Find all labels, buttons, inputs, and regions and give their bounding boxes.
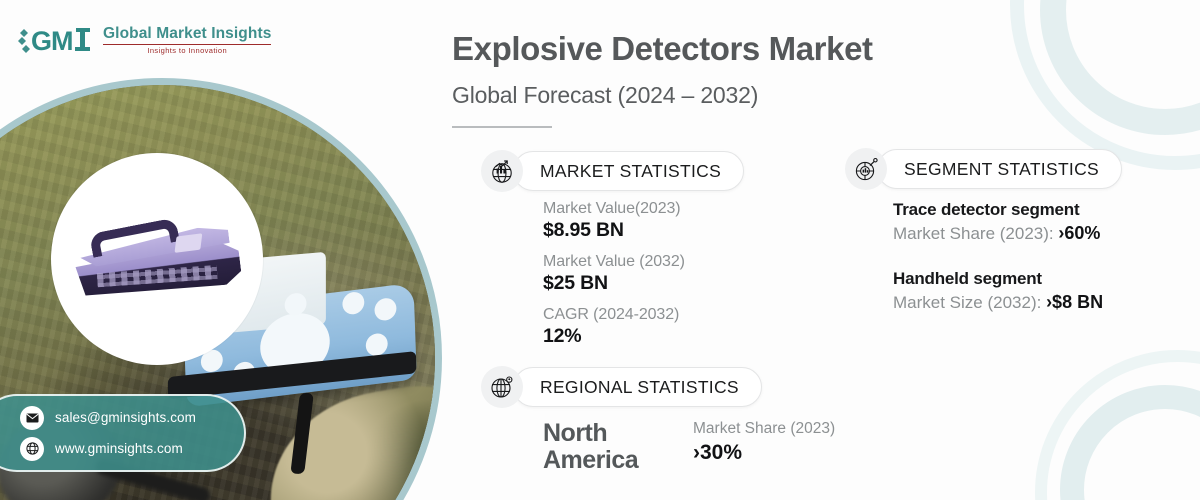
detector-button	[342, 291, 365, 316]
segment-statistics-label: SEGMENT STATISTICS	[904, 159, 1099, 180]
brand-logo[interactable]: GM Global Market Insights Insights to In…	[16, 24, 271, 56]
decorative-arc-bottom-right-inner	[1035, 350, 1200, 500]
logo-wordmark: Global Market Insights Insights to Innov…	[103, 26, 271, 55]
cagr-row: CAGR (2024-2032) 12%	[543, 306, 685, 348]
handheld-metric-label: Market Size (2032):	[893, 293, 1046, 312]
contact-email-row[interactable]: sales@gminsights.com	[20, 406, 244, 430]
handheld-detector-device	[72, 217, 242, 299]
market-statistics-pill: MARKET STATISTICS	[513, 151, 744, 191]
market-statistics-body: Market Value(2023) $8.95 BN Market Value…	[543, 200, 685, 359]
device-screen	[175, 233, 203, 253]
globe-pin-icon	[481, 366, 523, 408]
cagr-label: CAGR (2024-2032)	[543, 306, 685, 324]
segment-statistics-pill: SEGMENT STATISTICS	[877, 149, 1122, 189]
handheld-segment: Handheld segment Market Size (2032): ›$8…	[893, 269, 1103, 313]
page-title: Explosive Detectors Market	[452, 30, 1012, 68]
page-subtitle: Global Forecast (2024 – 2032)	[452, 82, 1012, 109]
logo-divider	[103, 44, 271, 45]
logo-company-name: Global Market Insights	[103, 26, 271, 42]
region-metric: Market Share (2023) ›30%	[693, 420, 835, 465]
detector-button	[374, 297, 397, 322]
market-value-2032-row: Market Value (2032) $25 BN	[543, 253, 685, 295]
trace-detector-metric-label: Market Share (2023):	[893, 224, 1058, 243]
trace-detector-metric-value: ›60%	[1058, 223, 1100, 243]
cagr-value: 12%	[543, 325, 685, 348]
product-inset-circle	[51, 153, 263, 365]
market-value-2023-value: $8.95 BN	[543, 219, 685, 242]
market-value-2032-label: Market Value (2032)	[543, 253, 685, 271]
regional-statistics-label: REGIONAL STATISTICS	[540, 377, 739, 398]
region-row: North America Market Share (2023) ›30%	[543, 420, 835, 473]
regional-statistics-pill: REGIONAL STATISTICS	[513, 367, 762, 407]
trace-detector-name: Trace detector segment	[893, 200, 1103, 220]
market-value-2023-label: Market Value(2023)	[543, 200, 685, 218]
envelope-icon	[20, 406, 44, 430]
region-name: North America	[543, 420, 665, 473]
market-statistics-label: MARKET STATISTICS	[540, 161, 721, 182]
trace-detector-metric: Market Share (2023): ›60%	[893, 223, 1103, 244]
contact-website-row[interactable]: www.gminsights.com	[20, 437, 244, 461]
decorative-arc-bottom-right-outer	[1060, 385, 1200, 500]
contact-website-text: www.gminsights.com	[55, 441, 183, 456]
region-metric-value: ›30%	[693, 441, 835, 465]
region-metric-label: Market Share (2023)	[693, 420, 835, 438]
contact-panel: sales@gminsights.com www.gminsights.com	[0, 394, 246, 472]
segment-statistics-body: Trace detector segment Market Share (202…	[893, 200, 1103, 313]
regional-statistics-header: REGIONAL STATISTICS	[481, 366, 762, 408]
decorative-arc-top-right-outer	[1040, 0, 1200, 135]
handheld-name: Handheld segment	[893, 269, 1103, 289]
pie-chart-pointer-icon	[845, 148, 887, 190]
market-value-2023-row: Market Value(2023) $8.95 BN	[543, 200, 685, 242]
contact-email-text: sales@gminsights.com	[55, 410, 196, 425]
market-statistics-header: MARKET STATISTICS	[481, 150, 744, 192]
segment-statistics-header: SEGMENT STATISTICS	[845, 148, 1122, 190]
trace-detector-segment: Trace detector segment Market Share (202…	[893, 200, 1103, 244]
header: Explosive Detectors Market Global Foreca…	[452, 30, 1012, 128]
header-divider	[452, 126, 552, 128]
globe-icon	[20, 437, 44, 461]
svg-text:GM: GM	[31, 26, 73, 56]
handheld-metric: Market Size (2032): ›$8 BN	[893, 292, 1103, 313]
decorative-arc-top-right-inner	[1010, 0, 1200, 170]
market-value-2032-value: $25 BN	[543, 272, 685, 295]
globe-bar-chart-icon	[481, 150, 523, 192]
gmi-logo-icon: GM	[16, 24, 94, 56]
regional-statistics-body: North America Market Share (2023) ›30%	[543, 420, 835, 473]
logo-tagline: Insights to Innovation	[103, 47, 271, 55]
handheld-metric-value: ›$8 BN	[1046, 292, 1103, 312]
infographic-canvas: GM Global Market Insights Insights to In…	[0, 0, 1200, 500]
